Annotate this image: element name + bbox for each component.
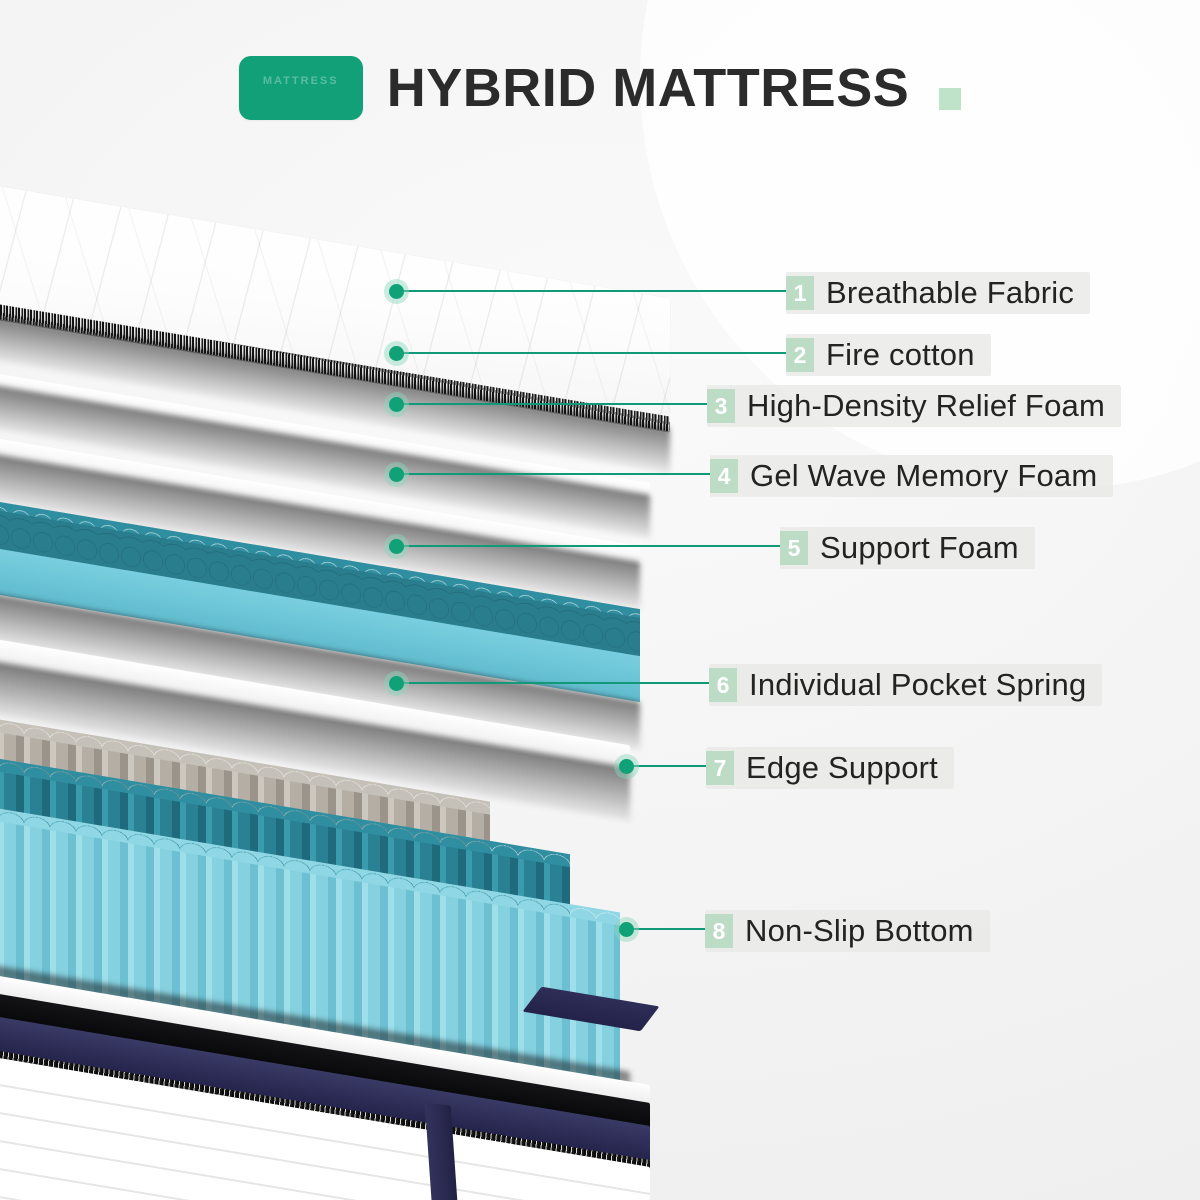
callout-label-4[interactable]: 4Gel Wave Memory Foam bbox=[710, 455, 1113, 497]
brand-logo-text: MATTRESS bbox=[239, 75, 363, 87]
callout-label-text: High-Density Relief Foam bbox=[747, 388, 1105, 424]
callout-line-3 bbox=[396, 403, 716, 405]
callout-dot-1[interactable] bbox=[389, 284, 404, 299]
callout-number-badge: 7 bbox=[706, 751, 734, 785]
callout-label-text: Breathable Fabric bbox=[826, 275, 1074, 311]
callout-label-text: Individual Pocket Spring bbox=[749, 667, 1086, 703]
callout-label-text: Non-Slip Bottom bbox=[745, 913, 974, 949]
callout-label-text: Edge Support bbox=[746, 750, 938, 786]
callout-line-1 bbox=[396, 290, 795, 292]
callout-line-5 bbox=[396, 545, 789, 547]
callout-label-5[interactable]: 5Support Foam bbox=[780, 527, 1035, 569]
title-accent-square bbox=[939, 88, 961, 110]
callout-line-6 bbox=[396, 682, 718, 684]
callout-dot-5[interactable] bbox=[389, 539, 404, 554]
callout-dot-2[interactable] bbox=[389, 346, 404, 361]
callout-number-badge: 5 bbox=[780, 531, 808, 565]
callout-number-badge: 4 bbox=[710, 459, 738, 493]
callout-label-text: Support Foam bbox=[820, 530, 1019, 566]
callout-line-4 bbox=[396, 473, 719, 475]
callout-number-badge: 2 bbox=[786, 338, 814, 372]
callout-label-2[interactable]: 2Fire cotton bbox=[786, 334, 991, 376]
callout-dot-3[interactable] bbox=[389, 397, 404, 412]
page-title: HYBRID MATTRESS bbox=[387, 57, 910, 119]
callout-number-badge: 6 bbox=[709, 668, 737, 702]
callout-label-6[interactable]: 6Individual Pocket Spring bbox=[709, 664, 1102, 706]
callout-line-7 bbox=[626, 765, 715, 767]
callout-line-8 bbox=[626, 928, 714, 930]
callout-dot-6[interactable] bbox=[389, 676, 404, 691]
callout-label-8[interactable]: 8Non-Slip Bottom bbox=[705, 910, 990, 952]
callout-number-badge: 1 bbox=[786, 276, 814, 310]
callout-number-badge: 8 bbox=[705, 914, 733, 948]
callout-label-text: Gel Wave Memory Foam bbox=[750, 458, 1097, 494]
mattress-exploded-illustration bbox=[0, 175, 690, 1200]
infographic-canvas: MATTRESS HYBRID MATTRESS bbox=[0, 0, 1200, 1200]
brand-logo-badge: MATTRESS bbox=[239, 56, 363, 120]
callout-dot-4[interactable] bbox=[389, 467, 404, 482]
page-header: MATTRESS HYBRID MATTRESS bbox=[0, 0, 1200, 175]
callout-label-7[interactable]: 7Edge Support bbox=[706, 747, 954, 789]
callout-dot-8[interactable] bbox=[619, 922, 634, 937]
callout-label-1[interactable]: 1Breathable Fabric bbox=[786, 272, 1090, 314]
callout-dot-7[interactable] bbox=[619, 759, 634, 774]
callout-label-3[interactable]: 3High-Density Relief Foam bbox=[707, 385, 1121, 427]
callout-line-2 bbox=[396, 352, 795, 354]
callout-number-badge: 3 bbox=[707, 389, 735, 423]
callout-label-text: Fire cotton bbox=[826, 337, 975, 373]
